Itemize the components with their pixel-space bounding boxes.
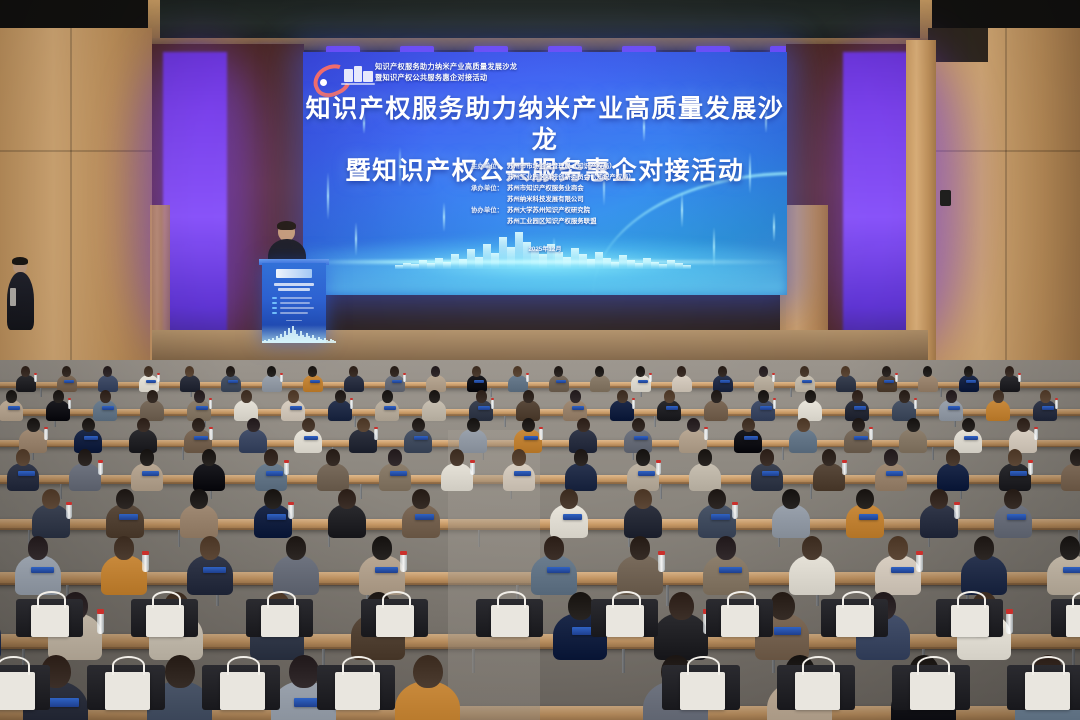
organizer-row: 主办单位：苏州市市场监督管理局（知识产权局） [303, 162, 787, 172]
screen-header-line2: 暨知识产权公共服务惠企对接活动 [375, 73, 517, 84]
name-card [666, 406, 678, 410]
audience-member-body [294, 429, 322, 453]
audience-member-body [937, 463, 970, 492]
tote-bag-handle [687, 656, 720, 675]
water-bottle [649, 374, 652, 382]
audience-member-body [422, 400, 446, 421]
name-card [859, 514, 878, 520]
audience-member-body [459, 429, 487, 453]
audience-member-head [140, 449, 155, 466]
name-card [948, 406, 960, 410]
tote-bag-handle [0, 656, 30, 675]
skyline-building [651, 262, 659, 270]
tote-bag [335, 672, 380, 710]
bottle-cap [1055, 398, 1059, 400]
water-bottle [284, 462, 289, 475]
tote-bag [910, 672, 955, 710]
audience-member-head [574, 449, 589, 466]
water-bottle [916, 554, 923, 572]
audience-member-body [565, 463, 598, 492]
audience-member-body [875, 463, 908, 492]
tote-bag-handle [917, 656, 950, 675]
audience-member-head [349, 366, 358, 377]
audience-member-head [100, 390, 111, 403]
name-card [1010, 471, 1026, 476]
audience-member-head [226, 366, 235, 377]
water-bottle [773, 400, 777, 410]
podium-text-line [280, 312, 308, 314]
organizer-row: 苏州工业园区科技创新委员会（知识产权局） [303, 173, 787, 183]
audience-member-body [273, 555, 319, 595]
audience-member-head [882, 366, 891, 377]
tote-bag [105, 672, 150, 710]
bottle-cap [658, 551, 665, 555]
tote-bag-handle [497, 591, 526, 607]
audience-member-head [413, 655, 443, 689]
audience-member-body [939, 400, 963, 421]
audience-member-body [846, 504, 884, 538]
screen-event-date: 2025年12月 [303, 244, 787, 253]
organizer-value: 苏州大学苏州知识产权研究院 [507, 206, 639, 216]
skyline-building [403, 263, 411, 269]
bottle-cap [491, 398, 495, 400]
water-bottle [97, 613, 105, 634]
audience-member-head [718, 366, 727, 377]
water-bottle [869, 429, 873, 440]
skyline-building [334, 341, 336, 343]
audience-member-head [742, 418, 755, 433]
water-bottle [209, 400, 213, 410]
water-bottle [895, 374, 898, 382]
audience-member-body [610, 400, 634, 421]
organizer-row: 协办单位：苏州大学苏州知识产权研究院 [303, 206, 787, 216]
screen-organizer-list: 主办单位：苏州市市场监督管理局（知识产权局）苏州工业园区科技创新委员会（知识产权… [303, 162, 787, 228]
name-card [267, 514, 286, 520]
audience-member-body [549, 375, 569, 393]
audience-member-head [617, 390, 628, 403]
water-bottle [288, 504, 294, 519]
name-card [638, 471, 654, 476]
audience-member-head [382, 390, 393, 403]
skyline-building [619, 255, 627, 269]
water-bottle [98, 462, 103, 475]
audience-member-head [634, 489, 652, 509]
audience-member-head [144, 366, 153, 377]
audience-member-head [800, 366, 809, 377]
audience-member-body [703, 555, 749, 595]
bottle-cap [209, 398, 213, 400]
name-card [146, 380, 156, 383]
audience-member-head [554, 366, 563, 377]
organizer-key [451, 195, 503, 205]
tote-bag [1025, 672, 1070, 710]
audience-member-head [677, 366, 686, 377]
audience-member-head [907, 418, 920, 433]
audience-member-head [946, 390, 957, 403]
skyline-building [563, 257, 571, 270]
name-card [556, 380, 566, 383]
tote-bag [376, 605, 414, 637]
name-card [634, 436, 648, 440]
audience-member-head [782, 489, 800, 509]
audience-member-body [844, 429, 872, 453]
skyline-building [451, 254, 459, 269]
bottle-cap [526, 373, 529, 375]
audience-member-head [513, 366, 522, 377]
audience-member-body [954, 429, 982, 453]
table-leg [504, 416, 506, 427]
organizer-key [451, 217, 503, 227]
water-bottle [526, 374, 529, 382]
audience-member-body [877, 375, 897, 393]
audience-member-body [106, 504, 144, 538]
audience-member-body [255, 463, 288, 492]
audience-member-head [852, 418, 865, 433]
audience-member-body [986, 400, 1010, 421]
bottle-cap [916, 551, 923, 555]
wall-recess-right [928, 28, 988, 62]
audience-member-head [16, 449, 31, 466]
ceiling-dark-left [0, 0, 150, 30]
name-card [884, 380, 894, 383]
audience-member-head [899, 390, 910, 403]
audience-member-body [698, 504, 736, 538]
audience-member-body [281, 400, 305, 421]
name-card [290, 406, 302, 410]
water-bottle [1006, 613, 1014, 634]
audience-member-body [98, 375, 118, 393]
skyline-building [411, 264, 419, 269]
audience-member-head [884, 449, 899, 466]
name-card [964, 436, 978, 440]
audience-member-head [544, 536, 565, 560]
tote-bag-handle [802, 656, 835, 675]
tote-bag [261, 605, 299, 637]
audience-member-head [302, 418, 315, 433]
bottle-cap [66, 502, 72, 505]
audience-member-body [627, 463, 660, 492]
audience-member-body [16, 375, 36, 393]
audience-member-head [1008, 449, 1023, 466]
skyline-building [683, 265, 691, 269]
water-bottle [656, 462, 661, 475]
audience-member-head [78, 449, 93, 466]
water-bottle [280, 374, 283, 382]
audience-member-body [359, 555, 405, 595]
audience-member-head [923, 366, 932, 377]
audience-member-body [961, 555, 1007, 595]
audience-member-head [1070, 449, 1080, 466]
audience-member-body [32, 504, 70, 538]
table-edge [0, 528, 1080, 530]
bottle-cap [284, 460, 289, 463]
table-leg [360, 484, 362, 499]
organizer-value: 苏州市市场监督管理局（知识产权局） [507, 162, 639, 172]
tote-bag-handle [112, 656, 145, 675]
organizer-value: 苏州市知识产权服务业商会 [507, 184, 639, 194]
organizer-row: 承办单位：苏州市知识产权服务业商会 [303, 184, 787, 194]
audience-member-head [1017, 418, 1030, 433]
audience-member-body [328, 400, 352, 421]
audience-member-head [711, 390, 722, 403]
audience-member-body [918, 375, 938, 393]
audience-member-body [508, 375, 528, 393]
audience-member-head [636, 366, 645, 377]
audience-member-body [813, 463, 846, 492]
name-card [854, 406, 866, 410]
audience-member-head [202, 449, 217, 466]
water-bottle [1018, 374, 1021, 382]
audience-member-head [964, 366, 973, 377]
name-card [762, 471, 778, 476]
table-leg [782, 447, 784, 460]
audience-member-body [379, 463, 412, 492]
screen-title-line1: 知识产权服务助力纳米产业高质量发展沙龙 [303, 94, 787, 156]
audience-member-head [664, 390, 675, 403]
name-card [572, 406, 584, 410]
audience-member-head [472, 366, 481, 377]
audience-member-body [344, 375, 364, 393]
water-bottle [209, 429, 213, 440]
water-bottle [632, 400, 636, 410]
bottle-cap [97, 609, 105, 613]
audience-member-body [239, 429, 267, 453]
bottle-cap [842, 460, 847, 463]
name-card [194, 436, 208, 440]
bottle-cap [350, 398, 354, 400]
audience-member-head [476, 390, 487, 403]
audience-member-head [632, 418, 645, 433]
tote-bag [795, 672, 840, 710]
podium-text-line [280, 297, 312, 299]
audience-member-head [116, 489, 134, 509]
name-card [719, 567, 742, 574]
name-card [18, 471, 34, 476]
name-card [46, 698, 78, 707]
logo-block-icon [363, 71, 373, 82]
water-bottle [470, 462, 475, 475]
table-leg [660, 484, 662, 499]
skyline-building [643, 258, 651, 269]
audience-member-head [288, 390, 299, 403]
wall-seam [1005, 28, 1007, 368]
name-card [196, 406, 208, 410]
tote-bag [721, 605, 759, 637]
audience-member-head [669, 592, 694, 620]
podium-text-line [280, 307, 314, 309]
name-card [1042, 406, 1054, 410]
tote-bag-handle [37, 591, 66, 607]
skyline-building [459, 259, 467, 269]
conference-hall-photo: 知识产权服务助力纳米产业高质量发展沙龙 暨知识产权公共服务惠企对接活动 知识产权… [0, 0, 1080, 720]
water-bottle [732, 504, 738, 519]
audience-member-body [254, 504, 292, 538]
bottle-cap [34, 373, 37, 375]
skyline-building [539, 254, 547, 269]
light-panel-right [843, 52, 909, 352]
tote-bag-handle [227, 656, 260, 675]
audience-member-head [797, 418, 810, 433]
screen-header-text: 知识产权服务助力纳米产业高质量发展沙龙 暨知识产权公共服务惠企对接活动 [375, 62, 517, 83]
audience-member-head [326, 449, 341, 466]
skyline-building [395, 265, 403, 269]
tote-bag-handle [957, 591, 986, 607]
podium-text-accent [272, 307, 277, 309]
tote-bag-handle [342, 656, 375, 675]
audience-member-head [467, 418, 480, 433]
name-card [392, 380, 402, 383]
table-leg [622, 649, 625, 674]
water-bottle [350, 400, 354, 410]
audience-member-head [194, 390, 205, 403]
audience-member-head [357, 418, 370, 433]
audience-member-head [856, 489, 874, 509]
bottle-cap [470, 460, 475, 463]
name-card [266, 471, 282, 476]
name-card [102, 406, 114, 410]
skyline-building [419, 260, 427, 269]
name-card [638, 380, 648, 383]
name-card [514, 471, 530, 476]
name-card [142, 471, 158, 476]
audience-member-body [657, 400, 681, 421]
audience-member-body [899, 429, 927, 453]
audience-member-body [590, 375, 610, 393]
audience-member-head [708, 489, 726, 509]
audience-member-body [193, 463, 226, 492]
audience-member-body [836, 375, 856, 393]
wall-speaker-device [940, 190, 951, 206]
audience-member-head [28, 536, 49, 560]
audience-member-head [698, 449, 713, 466]
podium-text-accent [272, 302, 277, 304]
audience-member-head [82, 418, 95, 433]
audience-member-head [264, 449, 279, 466]
skyline-building [635, 263, 643, 269]
audience-member-head [147, 390, 158, 403]
water-bottle [914, 400, 918, 410]
bottle-cap [732, 502, 738, 505]
audience-member-body [550, 504, 588, 538]
audience-member-body [999, 463, 1032, 492]
audience-member-head [53, 390, 64, 403]
tote-bag-handle [612, 591, 641, 607]
audience-member-body [1000, 375, 1020, 393]
tote-bag [31, 605, 69, 637]
podium-title-line [278, 288, 310, 291]
bottle-cap [288, 502, 294, 505]
audience-member-head [372, 536, 393, 560]
audience-member-body [920, 504, 958, 538]
table-leg [40, 388, 42, 397]
audience-member-body [375, 400, 399, 421]
bottle-cap [400, 551, 407, 555]
tote-bag [146, 605, 184, 637]
audience-member-head [770, 592, 795, 620]
audience-member-head [758, 390, 769, 403]
audience-member-body [672, 375, 692, 393]
table-leg [490, 388, 492, 397]
audience-member-head [930, 489, 948, 509]
audience-member-head [289, 655, 319, 689]
tote-bag [1066, 605, 1080, 637]
bottle-cap [914, 398, 918, 400]
podium-text-accent [272, 312, 277, 314]
logo-block-icon [344, 69, 353, 82]
name-card [760, 406, 772, 410]
tote-bag [491, 605, 529, 637]
audience-member-body [772, 504, 810, 538]
skyline-building [603, 258, 611, 269]
led-stage-screen: 知识产权服务助力纳米产业高质量发展沙龙 暨知识产权公共服务惠企对接活动 知识产权… [303, 52, 787, 295]
light-panel-left [163, 52, 227, 352]
bottle-cap [954, 502, 960, 505]
name-card [720, 380, 730, 383]
tote-bag [680, 672, 725, 710]
bottle-cap [403, 373, 406, 375]
logo-dot-icon [320, 79, 327, 86]
tote-bag [606, 605, 644, 637]
audience-member-head [390, 366, 399, 377]
podium-text-accent [272, 297, 277, 299]
name-card [8, 406, 20, 410]
wall-seam [70, 28, 72, 368]
table-leg [940, 388, 942, 397]
name-card [1007, 514, 1026, 520]
audience-member-head [450, 449, 465, 466]
table-leg [790, 388, 792, 397]
name-card [304, 436, 318, 440]
organizer-row: 苏州纳米科技发展有限公司 [303, 195, 787, 205]
name-card [390, 471, 406, 476]
name-card [744, 436, 758, 440]
organizer-key: 协办单位： [451, 206, 503, 216]
audience-member-body [751, 400, 775, 421]
audience-member-head [137, 418, 150, 433]
audience-member-head [822, 449, 837, 466]
audience-member-body [789, 555, 835, 595]
audience-member-body [875, 555, 921, 595]
skyline-building [627, 260, 635, 269]
tote-bag-handle [842, 591, 871, 607]
skyline-building [587, 259, 595, 269]
audience-member-head [6, 390, 17, 403]
name-card [228, 380, 238, 383]
speaker-podium [262, 263, 326, 343]
audience-member-body [1047, 555, 1080, 595]
bottle-cap [98, 460, 103, 463]
audience-member-head [114, 536, 135, 560]
audience-member-head [62, 366, 71, 377]
audience-member-body [789, 429, 817, 453]
audience-member-body [402, 504, 440, 538]
audience-member-head [630, 536, 651, 560]
screen-header-line1: 知识产权服务助力纳米产业高质量发展沙龙 [375, 62, 517, 73]
audience-member-body [624, 504, 662, 538]
audience-member-body [180, 504, 218, 538]
water-bottle [772, 374, 775, 382]
table-leg [654, 416, 656, 427]
tote-bag [220, 672, 265, 710]
audience-member-body [262, 375, 282, 393]
audience-member-head [993, 390, 1004, 403]
skyline-building [675, 263, 683, 269]
audience-member-head [241, 390, 252, 403]
name-card [84, 436, 98, 440]
name-card [375, 567, 398, 574]
wall-seam [0, 150, 152, 152]
audience-member-head [185, 366, 194, 377]
